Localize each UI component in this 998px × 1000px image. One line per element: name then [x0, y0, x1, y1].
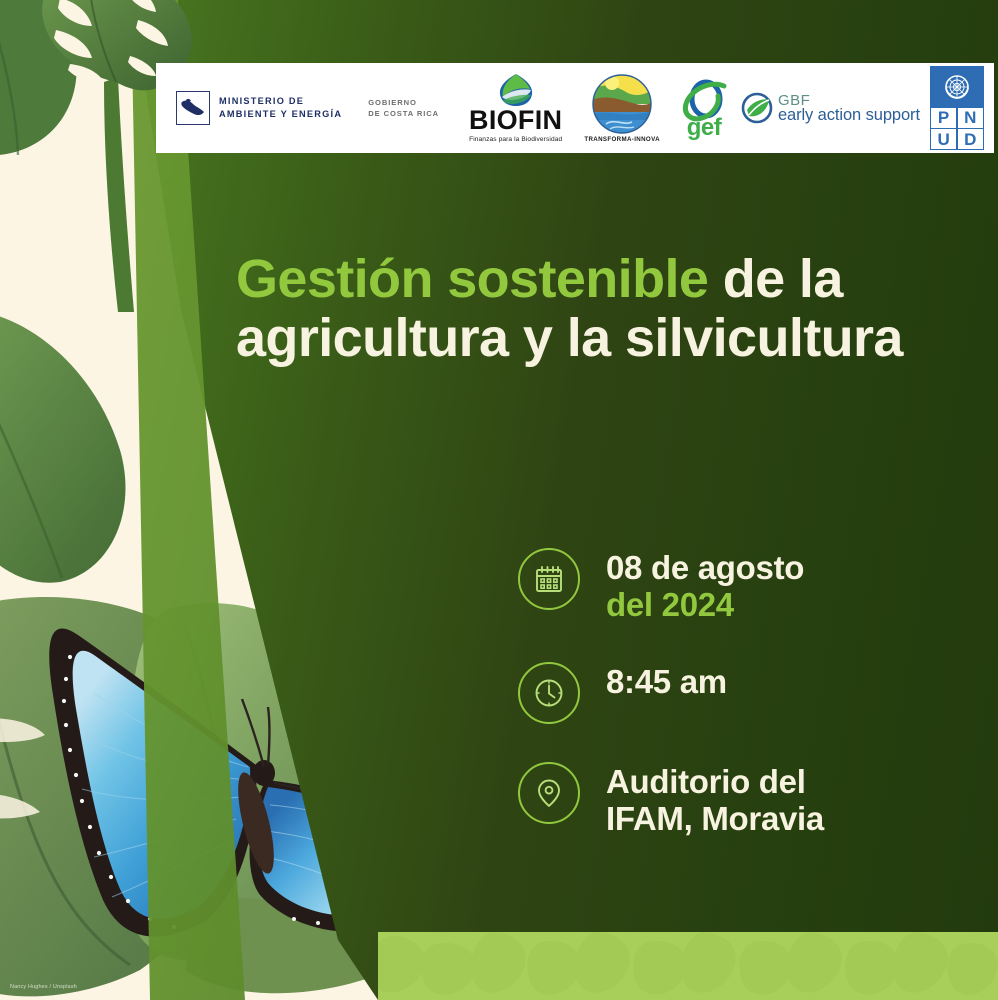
pnud-letter-d: D — [958, 129, 983, 149]
leaf-decoration-left — [0, 300, 157, 585]
logo-gef: gef — [680, 63, 728, 153]
logo-pnud: P N U D — [930, 63, 984, 153]
minae-label: MINISTERIO DE AMBIENTE Y ENERGÍA — [219, 95, 342, 121]
clock-icon — [518, 662, 580, 724]
event-details: 08 de agosto del 2024 8:45 am — [518, 548, 988, 838]
un-emblem-icon — [931, 67, 983, 107]
detail-location-line2: IFAM, Moravia — [606, 801, 824, 838]
detail-date: 08 de agosto del 2024 — [518, 548, 988, 624]
transforma-label: TRANSFORMA-INNOVA — [584, 136, 660, 143]
logo-gbf: GBF early action support — [741, 63, 920, 153]
detail-date-text: 08 de agosto del 2024 — [606, 548, 804, 624]
gbf-leaf-icon — [741, 92, 773, 124]
logo-gobierno: GOBIERNO DE COSTA RICA — [342, 63, 439, 153]
logo-bar: MINISTERIO DE AMBIENTE Y ENERGÍA GOBIERN… — [156, 63, 994, 153]
gbf-line2: early action support — [778, 107, 920, 124]
logo-minae: MINISTERIO DE AMBIENTE Y ENERGÍA — [170, 63, 342, 153]
gef-wordmark: gef — [687, 118, 722, 137]
biofin-tagline: Finanzas para la Biodiversidad — [469, 136, 562, 143]
biofin-wordmark: BIOFIN — [469, 108, 562, 134]
detail-time-line1: 8:45 am — [606, 664, 727, 701]
landscape-circle-icon — [592, 74, 652, 134]
detail-location-line1: Auditorio del — [606, 764, 824, 801]
photo-credit: Nancy Hughes / Unsplash — [10, 984, 77, 990]
detail-location-text: Auditorio del IFAM, Moravia — [606, 762, 824, 838]
poster-title: Gestión sostenible de la agricultura y l… — [236, 250, 936, 368]
location-pin-icon — [518, 762, 580, 824]
pnud-letter-n: N — [958, 108, 983, 128]
gobierno-label: GOBIERNO DE COSTA RICA — [368, 97, 439, 120]
biofin-droplet-icon — [496, 73, 536, 107]
detail-time-text: 8:45 am — [606, 662, 727, 701]
event-poster: MINISTERIO DE AMBIENTE Y ENERGÍA GOBIERN… — [0, 0, 998, 1000]
title-highlight: Gestión sostenible — [236, 249, 708, 309]
monstera-leaf-icon — [34, 0, 214, 312]
detail-location: Auditorio del IFAM, Moravia — [518, 762, 988, 838]
logo-biofin: BIOFIN Finanzas para la Biodiversidad — [469, 63, 562, 153]
costa-rica-map-icon — [176, 91, 210, 125]
logo-transforma-innova: TRANSFORMA-INNOVA — [584, 63, 660, 153]
calendar-icon — [518, 548, 580, 610]
pnud-letter-u: U — [931, 129, 956, 149]
pnud-letter-p: P — [931, 108, 956, 128]
detail-date-line2: del 2024 — [606, 587, 804, 624]
detail-time: 8:45 am — [518, 662, 988, 724]
detail-date-line1: 08 de agosto — [606, 550, 804, 587]
